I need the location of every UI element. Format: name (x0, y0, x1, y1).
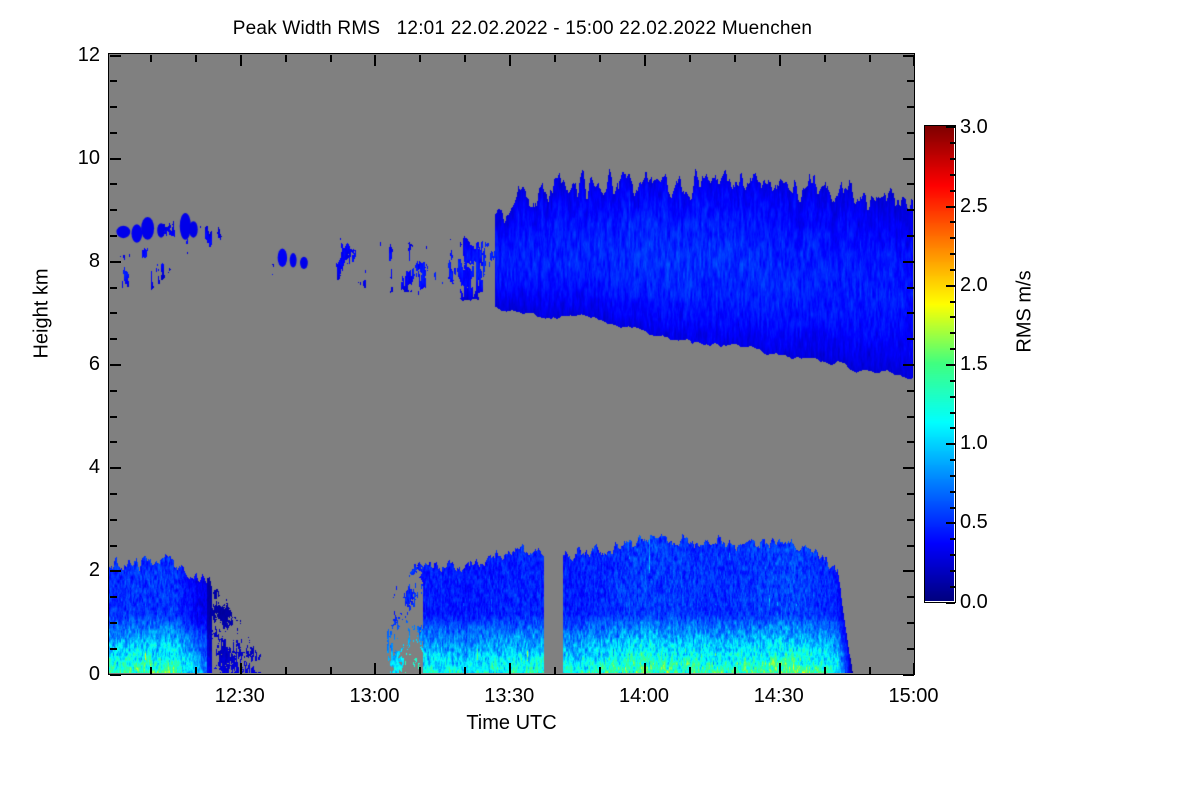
tick-mark (110, 261, 121, 263)
colorbar-tick-marks (924, 125, 964, 603)
tick-mark (907, 287, 914, 289)
x-tick-label: 13:30 (484, 686, 534, 706)
tick-mark (110, 80, 117, 82)
colorbar-tick-mark (946, 364, 955, 366)
tick-mark (110, 106, 117, 108)
tick-mark (599, 667, 601, 674)
tick-mark (907, 132, 914, 134)
colorbar-tick-mark (946, 522, 955, 524)
tick-mark (903, 158, 914, 160)
colorbar-tick-label: 3.0 (960, 117, 988, 137)
colorbar-tick-mark (950, 269, 955, 271)
tick-mark (240, 663, 242, 674)
colorbar-tick-mark (946, 602, 955, 604)
tick-mark (907, 622, 914, 624)
y-axis-title: Height km (31, 244, 54, 384)
colorbar-tick-mark (950, 348, 955, 350)
tick-mark (240, 55, 242, 66)
tick-mark (869, 55, 871, 62)
tick-mark (779, 55, 781, 66)
x-tick-label: 15:00 (888, 686, 938, 706)
x-tick-label: 14:30 (754, 686, 804, 706)
colorbar-tick-mark (950, 570, 955, 572)
colorbar-tick-mark (950, 459, 955, 461)
tick-mark (110, 648, 117, 650)
tick-mark (907, 209, 914, 211)
tick-mark (907, 648, 914, 650)
y-tick-label: 4 (89, 457, 100, 477)
tick-mark (907, 596, 914, 598)
tick-mark (110, 596, 117, 598)
tick-mark (644, 663, 646, 674)
tick-mark (824, 667, 826, 674)
tick-mark (554, 667, 556, 674)
tick-mark (110, 467, 121, 469)
colorbar-tick-mark (950, 158, 955, 160)
y-tick-label: 8 (89, 251, 100, 271)
tick-mark (903, 467, 914, 469)
tick-mark (285, 55, 287, 62)
colorbar-tick-mark (950, 427, 955, 429)
tick-mark (734, 667, 736, 674)
colorbar-tick-mark (950, 221, 955, 223)
tick-mark (644, 55, 646, 66)
tick-mark (419, 667, 421, 674)
tick-mark (907, 183, 914, 185)
tick-mark (150, 667, 152, 674)
colorbar-tick-mark (950, 380, 955, 382)
y-tick-label: 10 (78, 148, 100, 168)
colorbar-tick-mark (950, 253, 955, 255)
y-tick-label: 6 (89, 354, 100, 374)
tick-mark (110, 570, 121, 572)
tick-mark (110, 287, 117, 289)
tick-mark (509, 55, 511, 66)
colorbar-tick-mark (950, 475, 955, 477)
colorbar-tick-mark (950, 491, 955, 493)
tick-mark (903, 674, 914, 676)
page-title: Peak Width RMS 12:01 22.02.2022 - 15:00 … (0, 18, 1045, 40)
tick-mark (907, 519, 914, 521)
colorbar-tick-label: 1.5 (960, 354, 988, 374)
tick-mark (110, 158, 121, 160)
tick-mark (110, 390, 117, 392)
colorbar-tick-mark (950, 538, 955, 540)
tick-mark (464, 55, 466, 62)
colorbar-tick-label: 0.0 (960, 592, 988, 612)
tick-mark (907, 416, 914, 418)
tick-mark (907, 441, 914, 443)
colorbar-tick-label: 2.0 (960, 275, 988, 295)
colorbar-tick-label: 1.0 (960, 433, 988, 453)
y-tick-label: 12 (78, 45, 100, 65)
tick-mark (330, 667, 332, 674)
tick-mark (285, 667, 287, 674)
x-tick-label: 13:00 (349, 686, 399, 706)
tick-mark (907, 390, 914, 392)
colorbar-tick-mark (946, 443, 955, 445)
tick-mark (195, 667, 197, 674)
colorbar-tick-mark (950, 190, 955, 192)
figure-canvas: Peak Width RMS 12:01 22.02.2022 - 15:00 … (0, 0, 1200, 800)
tick-mark (110, 622, 117, 624)
tick-mark (734, 55, 736, 62)
tick-mark (374, 55, 376, 66)
tick-mark (110, 235, 117, 237)
tick-mark (599, 55, 601, 62)
x-axis-title: Time UTC (108, 712, 915, 735)
colorbar-tick-mark (946, 126, 955, 128)
tick-mark (110, 416, 117, 418)
tick-mark (689, 667, 691, 674)
tick-mark (903, 55, 914, 57)
colorbar-tick-mark (950, 507, 955, 509)
tick-mark (907, 493, 914, 495)
tick-mark (689, 55, 691, 62)
tick-mark (907, 545, 914, 547)
tick-mark (903, 570, 914, 572)
colorbar-tick-mark (950, 301, 955, 303)
colorbar-tick-mark (950, 237, 955, 239)
tick-mark (824, 55, 826, 62)
tick-mark (110, 493, 117, 495)
tick-mark (903, 261, 914, 263)
tick-mark (374, 663, 376, 674)
colorbar-tick-mark (950, 174, 955, 176)
tick-mark (110, 441, 117, 443)
tick-mark (907, 106, 914, 108)
tick-mark (907, 312, 914, 314)
colorbar-tick-mark (946, 206, 955, 208)
tick-mark (110, 183, 117, 185)
tick-mark (907, 338, 914, 340)
tick-mark (110, 312, 117, 314)
tick-mark (110, 519, 117, 521)
tick-mark (110, 338, 117, 340)
tick-mark (464, 667, 466, 674)
tick-mark (509, 663, 511, 674)
colorbar-tick-mark (950, 396, 955, 398)
tick-mark (110, 674, 121, 676)
colorbar-title: RMS m/s (1014, 232, 1037, 392)
colorbar-tick-mark (950, 142, 955, 144)
colorbar-tick-mark (950, 332, 955, 334)
colorbar-tick-mark (950, 586, 955, 588)
colorbar-tick-mark (950, 412, 955, 414)
tick-mark (869, 667, 871, 674)
y-tick-label: 2 (89, 560, 100, 580)
tick-mark (110, 209, 117, 211)
tick-mark (150, 55, 152, 62)
colorbar-tick-mark (946, 285, 955, 287)
colorbar-tick-label: 2.5 (960, 196, 988, 216)
tick-mark (913, 663, 915, 674)
colorbar-tick-mark (950, 316, 955, 318)
tick-mark (419, 55, 421, 62)
tick-mark (907, 80, 914, 82)
y-tick-label: 0 (89, 664, 100, 684)
tick-mark (110, 364, 121, 366)
x-tick-label: 14:00 (619, 686, 669, 706)
heatmap-data-layer (109, 54, 913, 673)
tick-mark (195, 55, 197, 62)
tick-mark (907, 235, 914, 237)
colorbar-tick-label: 0.5 (960, 512, 988, 532)
tick-mark (554, 55, 556, 62)
x-tick-label: 12:30 (215, 686, 265, 706)
tick-mark (110, 132, 117, 134)
colorbar-tick-mark (950, 554, 955, 556)
y-axis-tick-labels: 024681012 (38, 0, 100, 800)
colorbar-tick-labels: 0.00.51.01.52.02.53.0 (960, 0, 1020, 800)
tick-mark (903, 364, 914, 366)
tick-mark (330, 55, 332, 62)
tick-mark (110, 55, 121, 57)
plot-panel (108, 53, 915, 675)
tick-mark (779, 663, 781, 674)
tick-mark (110, 545, 117, 547)
